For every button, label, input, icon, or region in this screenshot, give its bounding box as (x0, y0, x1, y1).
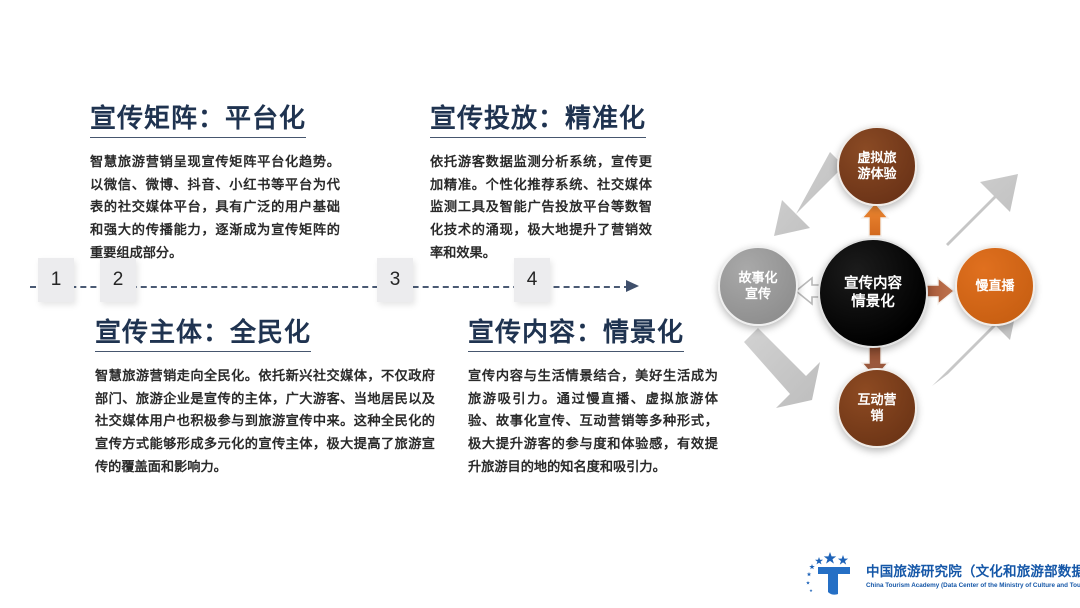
timeline: 1 2 3 4 (30, 258, 650, 320)
node-storytelling-line1: 故事化 (726, 270, 790, 286)
cycle-diagram: 虚拟旅 游体验 慢直播 互动营 销 故事化 宣传 宣传内容 情景化 (700, 118, 1080, 463)
node-virtual-tourism-line1: 虚拟旅 (845, 150, 909, 166)
node-interactive-marketing-line1: 互动营 (845, 392, 909, 408)
timeline-step-4: 4 (514, 258, 550, 302)
block-3-title: 宣传主体：全民化 (95, 318, 311, 352)
block-2-title: 宣传投放：精准化 (430, 104, 646, 138)
node-virtual-tourism: 虚拟旅 游体验 (837, 126, 917, 206)
logo-mark-icon (800, 550, 860, 598)
timeline-step-2: 2 (100, 258, 136, 302)
node-storytelling-line2: 宣传 (726, 286, 790, 302)
timeline-arrowhead-icon (626, 280, 639, 292)
block-4-title: 宣传内容：情景化 (468, 318, 684, 352)
content-area: 宣传矩阵：平台化 智慧旅游营销呈现宣传矩阵平台化趋势。以微信、微博、抖音、小红书… (0, 0, 690, 608)
content-block-2: 宣传投放：精准化 依托游客数据监测分析系统，宣传更加精准。个性化推荐系统、社交媒… (430, 104, 652, 264)
slide-root: 宣传矩阵：平台化 智慧旅游营销呈现宣传矩阵平台化趋势。以微信、微博、抖音、小红书… (0, 0, 1080, 608)
content-block-1: 宣传矩阵：平台化 智慧旅游营销呈现宣传矩阵平台化趋势。以微信、微博、抖音、小红书… (90, 104, 340, 264)
node-slow-livestream: 慢直播 (955, 246, 1035, 326)
content-block-3: 宣传主体：全民化 智慧旅游营销走向全民化。依托新兴社交媒体，不仅政府部门、旅游企… (95, 318, 435, 478)
cycle-arrow-right-to-top (932, 174, 1018, 246)
node-center-scenario: 宣传内容 情景化 (818, 238, 928, 348)
cycle-arrow-left-to-bottom (744, 328, 820, 408)
node-center-line1: 宣传内容 (826, 275, 920, 293)
content-block-4: 宣传内容：情景化 宣传内容与生活情景结合，美好生活成为旅游吸引力。通过慢直播、虚… (468, 318, 718, 478)
logo-text: 中国旅游研究院（文化和旅游部数据中心） China Tourism Academ… (866, 560, 1080, 589)
center-arrow-up (862, 203, 888, 236)
node-interactive-marketing: 互动营 销 (837, 368, 917, 448)
block-1-title: 宣传矩阵：平台化 (90, 104, 306, 138)
logo-name-cn: 中国旅游研究院（文化和旅游部数据中心） (866, 560, 1080, 580)
node-center-line2: 情景化 (826, 293, 920, 311)
block-3-body: 智慧旅游营销走向全民化。依托新兴社交媒体，不仅政府部门、旅游企业是宣传的主体，广… (95, 365, 435, 479)
block-2-body: 依托游客数据监测分析系统，宣传更加精准。个性化推荐系统、社交媒体监测工具及智能广… (430, 151, 652, 265)
timeline-step-3: 3 (377, 258, 413, 302)
organization-logo: 中国旅游研究院（文化和旅游部数据中心） China Tourism Academ… (800, 548, 1072, 600)
node-storytelling: 故事化 宣传 (718, 246, 798, 326)
logo-name-en: China Tourism Academy (Data Center of th… (866, 582, 1080, 589)
cycle-arrow-top-to-left (774, 152, 844, 236)
block-4-body: 宣传内容与生活情景结合，美好生活成为旅游吸引力。通过慢直播、虚拟旅游体验、故事化… (468, 365, 718, 479)
node-slow-livestream-line1: 慢直播 (963, 278, 1027, 294)
timeline-step-1: 1 (38, 258, 74, 302)
node-interactive-marketing-line2: 销 (845, 408, 909, 424)
block-1-body: 智慧旅游营销呈现宣传矩阵平台化趋势。以微信、微博、抖音、小红书等平台为代表的社交… (90, 151, 340, 265)
node-virtual-tourism-line2: 游体验 (845, 166, 909, 182)
